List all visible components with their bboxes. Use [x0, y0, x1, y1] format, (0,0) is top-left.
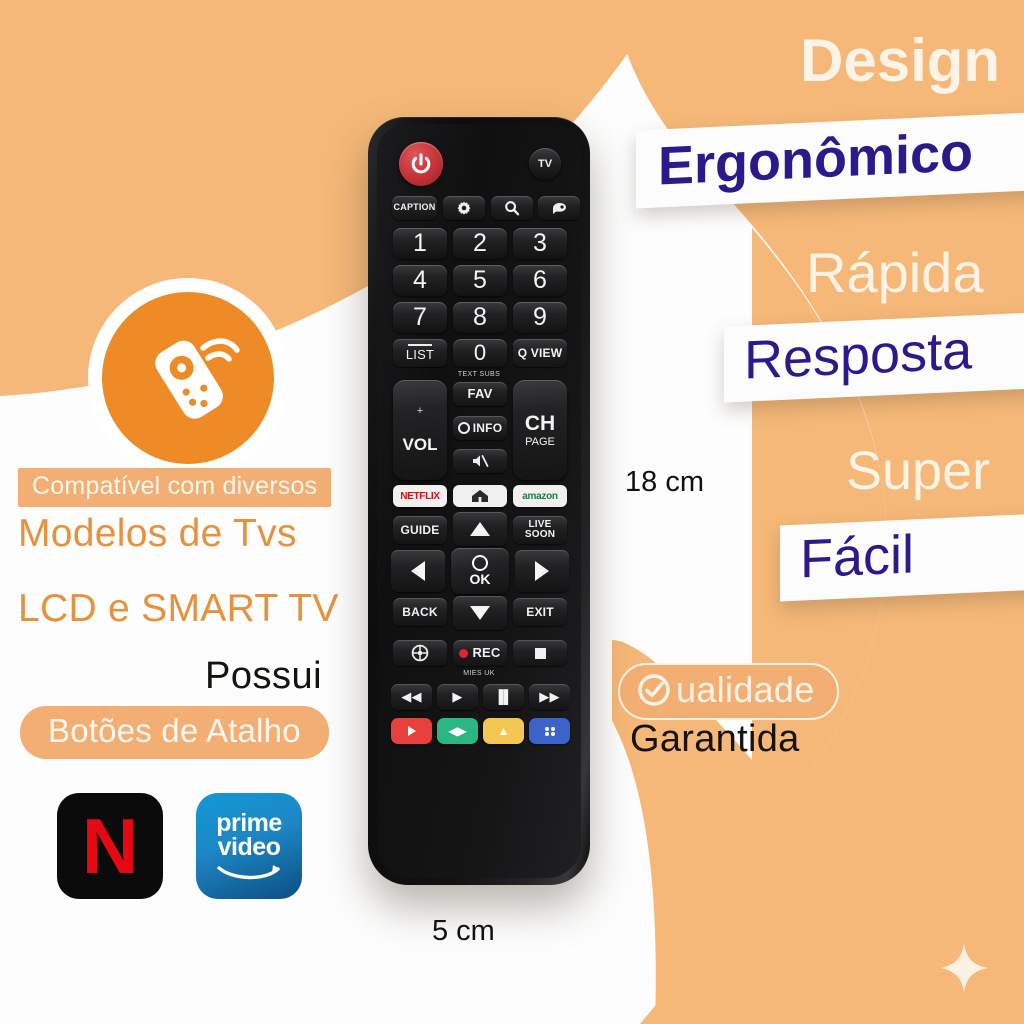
gear-icon — [456, 200, 472, 216]
netflix-app-icon[interactable]: N — [57, 793, 163, 899]
models-line: Modelos de Tvs — [18, 512, 297, 556]
guaranteed-label: Garantida — [630, 718, 800, 761]
height-dimension-label: 18 cm — [625, 466, 704, 499]
record-dot-icon — [459, 649, 468, 658]
exit-label: EXIT — [526, 606, 553, 618]
key-2[interactable]: 2 — [453, 228, 507, 259]
nav-down-button[interactable] — [453, 596, 507, 630]
rewind-icon: ◀◀ — [401, 690, 421, 703]
prime-line2: video — [218, 835, 281, 860]
info-circle-icon — [458, 422, 470, 434]
key-3-label: 3 — [533, 229, 547, 258]
ok-button[interactable]: OK — [451, 548, 509, 594]
wheel-icon — [411, 644, 429, 662]
power-icon — [409, 152, 433, 176]
nav-up-button[interactable] — [453, 512, 507, 546]
mic-icon — [551, 201, 568, 216]
search-button[interactable] — [491, 196, 533, 220]
key-5[interactable]: 5 — [453, 265, 507, 296]
key-0-label: 0 — [474, 340, 486, 366]
arrow-right-icon — [533, 559, 551, 583]
rec-sub-label: MIES UK — [377, 670, 581, 677]
check-circle-icon — [636, 672, 672, 708]
word-design: Design — [800, 26, 1000, 95]
forward-button[interactable]: ▶▶ — [529, 684, 570, 710]
tv-button[interactable]: TV — [529, 148, 561, 180]
stop-square-icon — [535, 648, 546, 659]
key-8-label: 8 — [473, 303, 487, 332]
back-button[interactable]: BACK — [393, 598, 447, 626]
word-resposta: Resposta — [744, 314, 1024, 391]
info-label: INFO — [473, 422, 502, 434]
red-color-button[interactable] — [391, 718, 432, 744]
list-button[interactable]: LIST — [393, 339, 447, 367]
sparkle-star-icon — [936, 940, 992, 996]
record-label: REC — [472, 646, 500, 659]
amazon-key-label: amazon — [522, 491, 557, 502]
key-2-label: 2 — [473, 229, 487, 258]
yellow-key-glyph: ▲ — [498, 724, 510, 738]
info-button[interactable]: INFO — [453, 416, 507, 440]
compat-banner-text: Compatível com diversos — [32, 472, 317, 500]
nav-left-button[interactable] — [391, 550, 445, 592]
red-key-glyph — [408, 726, 416, 736]
remote-face: TV CAPTION — [377, 124, 581, 878]
list-label: LIST — [406, 348, 434, 361]
record-button[interactable]: REC — [453, 640, 507, 666]
key-1-label: 1 — [413, 229, 427, 258]
quality-text: ualidade — [676, 669, 815, 711]
key-9[interactable]: 9 — [513, 302, 567, 333]
key-4[interactable]: 4 — [393, 265, 447, 296]
prime-video-app-icon[interactable]: prime video — [196, 793, 302, 899]
arrow-up-icon — [468, 520, 492, 538]
play-icon: ▶ — [452, 690, 462, 703]
netflix-glyph: N — [57, 793, 163, 899]
mute-button[interactable] — [453, 449, 507, 473]
word-facil: Fácil — [800, 515, 1024, 590]
amazon-shortcut-button[interactable]: amazon — [513, 485, 567, 507]
fav-label: FAV — [468, 387, 493, 400]
ok-circle-icon — [472, 555, 488, 571]
exit-button[interactable]: EXIT — [513, 598, 567, 626]
qview-button[interactable]: Q VIEW — [513, 339, 567, 367]
key-9-label: 9 — [533, 303, 547, 332]
netflix-shortcut-button[interactable]: NETFLIX — [393, 485, 447, 507]
key-7[interactable]: 7 — [393, 302, 447, 333]
guide-label: GUIDE — [400, 524, 439, 536]
remote-control-signal-icon — [132, 322, 244, 434]
remote-control: TV CAPTION — [368, 117, 590, 885]
compat-banner: Compatível com diversos — [18, 468, 331, 507]
volume-label: VOL — [403, 435, 438, 455]
shortcut-buttons-pill: Botões de Atalho — [20, 706, 329, 759]
banner-facil: Fácil — [780, 511, 1024, 602]
key-6-label: 6 — [533, 266, 547, 295]
prime-video-wordmark: prime video — [196, 793, 302, 899]
key-3[interactable]: 3 — [513, 228, 567, 259]
word-ergonomico: Ergonômico — [658, 116, 1024, 197]
back-label: BACK — [402, 606, 437, 618]
rewind-button[interactable]: ◀◀ — [391, 684, 432, 710]
fav-button[interactable]: FAV — [453, 382, 507, 406]
yellow-color-button[interactable]: ▲ — [483, 718, 524, 744]
green-color-button[interactable]: ◀▶ — [437, 718, 478, 744]
live-soon-label: LIVE SOON — [513, 520, 567, 540]
subs-label: TEXT SUBS — [377, 371, 581, 378]
width-dimension-label: 5 cm — [432, 915, 495, 948]
channel-rocker[interactable]: CH PAGE — [513, 380, 567, 480]
list-icon — [408, 344, 432, 346]
prime-line1: prime — [216, 811, 282, 836]
pause-icon: ▐▌ — [494, 690, 513, 703]
settings-button[interactable] — [443, 196, 485, 220]
green-key-glyph: ◀▶ — [448, 724, 466, 738]
arrow-down-icon — [468, 604, 492, 622]
stop-button[interactable] — [513, 640, 567, 666]
voice-button[interactable] — [538, 196, 580, 220]
qview-label: Q VIEW — [518, 347, 563, 359]
power-button[interactable] — [399, 142, 443, 186]
live-soon-button[interactable]: LIVE SOON — [513, 516, 567, 544]
channel-label: CH — [525, 412, 555, 436]
channel-sub-label: PAGE — [525, 436, 555, 448]
word-rapida: Rápida — [806, 240, 983, 305]
mute-icon — [471, 453, 489, 469]
key-0[interactable]: 0 — [453, 339, 507, 367]
key-7-label: 7 — [413, 303, 427, 332]
remote-feature-badge — [102, 292, 274, 464]
arrow-left-icon — [409, 559, 427, 583]
key-6[interactable]: 6 — [513, 265, 567, 296]
guide-button[interactable]: GUIDE — [393, 516, 447, 544]
blue-color-button[interactable] — [529, 718, 570, 744]
word-super: Super — [846, 440, 990, 502]
nav-right-button[interactable] — [515, 550, 569, 592]
quality-pill: ualidade — [618, 663, 839, 720]
key-1[interactable]: 1 — [393, 228, 447, 259]
tv-button-label: TV — [538, 158, 552, 170]
volume-rocker[interactable]: + VOL — [393, 380, 447, 480]
blue-key-glyph — [542, 724, 558, 738]
key-8[interactable]: 8 — [453, 302, 507, 333]
forward-icon: ▶▶ — [539, 690, 559, 703]
caption-button[interactable]: CAPTION — [392, 196, 437, 220]
shortcut-buttons-text: Botões de Atalho — [48, 712, 301, 749]
home-icon — [469, 488, 491, 504]
tv-types-line: LCD e SMART TV — [18, 587, 339, 631]
search-icon — [504, 200, 520, 216]
possui-label: Possui — [205, 655, 322, 698]
volume-plus: + — [417, 405, 423, 417]
caption-label: CAPTION — [394, 203, 436, 212]
pause-button[interactable]: ▐▌ — [483, 684, 524, 710]
key-5-label: 5 — [473, 266, 487, 295]
wheel-button[interactable] — [393, 640, 447, 666]
play-button[interactable]: ▶ — [437, 684, 478, 710]
netflix-key-label: NETFLIX — [400, 491, 440, 502]
home-shortcut-button[interactable] — [453, 485, 507, 507]
key-4-label: 4 — [413, 266, 427, 295]
poster-canvas: Compatível com diversos Modelos de Tvs L… — [0, 0, 1024, 1024]
ok-label: OK — [470, 571, 491, 587]
amazon-smile-icon — [215, 862, 283, 882]
